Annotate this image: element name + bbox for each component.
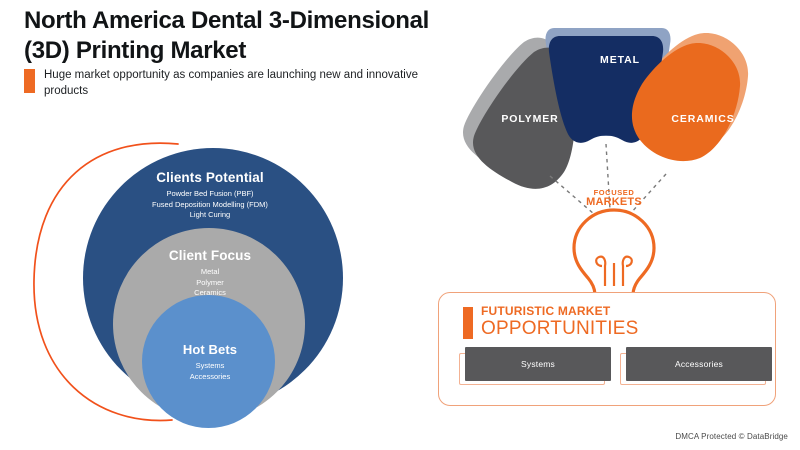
- focused-markets-diagram: POLYMER METAL CERAMICS FOCUSED MARKETS: [450, 14, 790, 294]
- page-subtitle: Huge market opportunity as companies are…: [44, 68, 444, 100]
- nested-circles-diagram: Clients Potential Powder Bed Fusion (PBF…: [0, 120, 420, 450]
- circle-items-client-focus: Metal Polymer Ceramics: [0, 267, 420, 299]
- panel-box-systems[interactable]: Systems: [459, 347, 607, 387]
- circle-label-client-focus: Client Focus Metal Polymer Ceramics: [0, 248, 420, 299]
- circle-items-clients-potential: Powder Bed Fusion (PBF) Fused Deposition…: [0, 189, 420, 221]
- infographic-root: North America Dental 3-Dimensional (3D) …: [0, 0, 800, 450]
- futuristic-market-opportunities-panel: FUTURISTIC MARKET OPPORTUNITIES Systems …: [438, 292, 776, 406]
- circle-title-clients-potential: Clients Potential: [0, 170, 420, 185]
- panel-orange-bullet-icon: [463, 307, 473, 339]
- orange-square-bullet-icon: [24, 69, 35, 93]
- page-title: North America Dental 3-Dimensional (3D) …: [24, 6, 444, 65]
- panel-header: FUTURISTIC MARKET OPPORTUNITIES: [463, 305, 638, 339]
- circle-label-hot-bets: Hot Bets Systems Accessories: [0, 342, 420, 382]
- footer-copyright: DMCA Protected © DataBridge: [675, 432, 788, 441]
- panel-box-label-systems: Systems: [465, 347, 611, 381]
- circle-items-hot-bets: Systems Accessories: [0, 361, 420, 382]
- panel-box-list: Systems Accessories: [459, 347, 768, 387]
- bulb-label-line2: MARKETS: [566, 197, 662, 209]
- subtitle-block: Huge market opportunity as companies are…: [24, 68, 444, 100]
- light-bulb-icon: [574, 210, 654, 294]
- panel-box-label-accessories: Accessories: [626, 347, 772, 381]
- circle-title-hot-bets: Hot Bets: [0, 342, 420, 357]
- petal-label-ceramics: CERAMICS: [638, 113, 768, 125]
- petal-label-metal: METAL: [560, 54, 680, 66]
- panel-box-accessories[interactable]: Accessories: [620, 347, 768, 387]
- petal-label-polymer: POLYMER: [470, 113, 590, 125]
- panel-title-line1: FUTURISTIC MARKET: [481, 305, 638, 318]
- circle-label-clients-potential: Clients Potential Powder Bed Fusion (PBF…: [0, 170, 420, 221]
- bulb-label: FOCUSED MARKETS: [566, 189, 662, 208]
- circle-title-client-focus: Client Focus: [0, 248, 420, 263]
- panel-title-line2: OPPORTUNITIES: [481, 319, 638, 339]
